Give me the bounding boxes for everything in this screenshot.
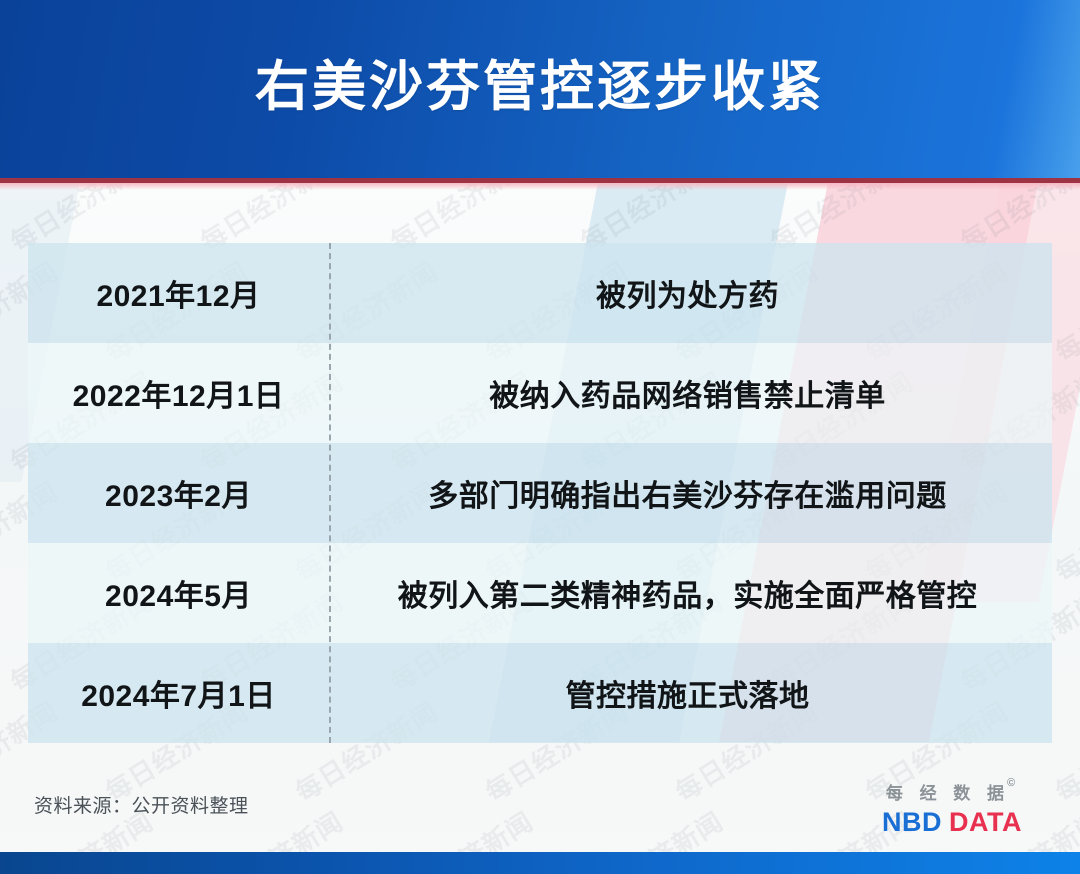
table-row: 2022年12月1日被纳入药品网络销售禁止清单 [28,343,1052,443]
nbd-logo: 每 经 数 据© NBDDATA [852,779,1052,838]
table-row: 2021年12月被列为处方药 [28,243,1052,343]
logo-english-text: NBDDATA [852,807,1052,838]
column-dashed-divider [329,243,331,743]
header-banner: 右美沙芬管控逐步收紧 [0,0,1080,178]
cell-date: 2022年12月1日 [28,371,329,415]
copyright-icon: © [1007,777,1015,789]
cell-date: 2024年7月1日 [28,671,329,715]
logo-data-label: DATA [949,807,1022,837]
timeline-table: 2021年12月被列为处方药2022年12月1日被纳入药品网络销售禁止清单202… [28,243,1052,743]
cell-date: 2023年2月 [28,471,329,515]
table-row: 2024年5月被列入第二类精神药品，实施全面严格管控 [28,543,1052,643]
cell-description: 被纳入药品网络销售禁止清单 [329,371,1052,415]
cell-description: 被列为处方药 [329,271,1052,315]
cell-description: 管控措施正式落地 [329,671,1052,715]
logo-chinese-text: 每 经 数 据© [886,779,1018,804]
infographic-canvas: 每日经济新闻每日经济新闻每日经济新闻每日经济新闻每日经济新闻每日经济新闻每日经济… [0,0,1080,874]
logo-chinese-label: 每 经 数 据 [886,784,1010,803]
logo-nbd-label: NBD [882,807,942,837]
cell-description: 被列入第二类精神药品，实施全面严格管控 [329,571,1052,615]
cell-date: 2024年5月 [28,571,329,615]
source-note: 资料来源：公开资料整理 [34,791,249,818]
cell-date: 2021年12月 [28,271,329,315]
table-row: 2024年7月1日管控措施正式落地 [28,643,1052,743]
header-divider-glow [0,183,1080,190]
cell-description: 多部门明确指出右美沙芬存在滥用问题 [329,471,1052,515]
page-title: 右美沙芬管控逐步收紧 [0,52,1080,122]
bottom-accent-bar [0,852,1080,874]
table-row: 2023年2月多部门明确指出右美沙芬存在滥用问题 [28,443,1052,543]
